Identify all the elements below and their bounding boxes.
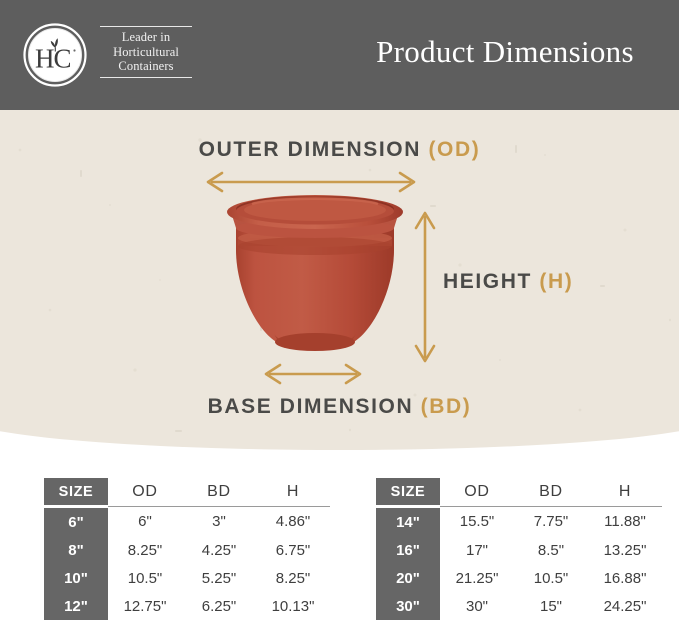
page-title: Product Dimensions (345, 34, 665, 70)
height-dimension-label: HEIGHT (H) (443, 270, 573, 294)
cell-bd: 6.25" (182, 592, 256, 620)
column-header-od: OD (108, 478, 182, 507)
outer-dimension-text: OUTER DIMENSION (199, 138, 421, 161)
tagline-line-2: Horticultural (98, 45, 194, 60)
svg-text:C: C (54, 44, 72, 74)
column-header-h: H (256, 478, 330, 507)
cell-size: 10" (44, 564, 108, 592)
svg-text:H: H (35, 44, 55, 74)
cell-h: 8.25" (256, 564, 330, 592)
cell-h: 6.75" (256, 536, 330, 564)
base-dimension-abbr: (BD) (421, 395, 472, 418)
dimension-table-small: SIZE OD BD H 6" 6" 3" 4.86" 8" 8.25" 4.2… (44, 478, 330, 620)
cell-size: 16" (376, 536, 440, 564)
cell-bd: 7.75" (514, 507, 588, 537)
dimension-diagram: OUTER DIMENSION (OD) HEIGHT (H) BASE DIM… (0, 110, 679, 440)
cell-od: 21.25" (440, 564, 514, 592)
table-row: 8" 8.25" 4.25" 6.75" (44, 536, 330, 564)
height-dimension-arrow-icon (408, 206, 442, 368)
base-dimension-label: BASE DIMENSION (BD) (0, 395, 679, 419)
product-dimensions-infographic: H C Leader in Horticultural Containers P… (0, 0, 679, 636)
brand-tagline: Leader in Horticultural Containers (98, 26, 194, 78)
cell-od: 8.25" (108, 536, 182, 564)
size-table: SIZE OD BD H 14" 15.5" 7.75" 11.88" 16" … (376, 478, 662, 620)
base-dimension-arrow-icon (258, 362, 368, 386)
tagline-line-3: Containers (98, 59, 194, 74)
cell-h: 11.88" (588, 507, 662, 537)
column-header-bd: BD (514, 478, 588, 507)
column-header-od: OD (440, 478, 514, 507)
cell-size: 14" (376, 507, 440, 537)
cell-size: 6" (44, 507, 108, 537)
column-header-size: SIZE (44, 478, 108, 507)
brand-logo: H C Leader in Horticultural Containers (22, 22, 192, 88)
outer-dimension-label: OUTER DIMENSION (OD) (0, 138, 679, 162)
table-header-row: SIZE OD BD H (44, 478, 330, 507)
table-row: 14" 15.5" 7.75" 11.88" (376, 507, 662, 537)
table-row: 10" 10.5" 5.25" 8.25" (44, 564, 330, 592)
cell-size: 12" (44, 592, 108, 620)
base-dimension-text: BASE DIMENSION (208, 395, 414, 418)
cell-size: 20" (376, 564, 440, 592)
cell-od: 15.5" (440, 507, 514, 537)
cell-od: 17" (440, 536, 514, 564)
size-table: SIZE OD BD H 6" 6" 3" 4.86" 8" 8.25" 4.2… (44, 478, 330, 620)
column-header-size: SIZE (376, 478, 440, 507)
table-row: 12" 12.75" 6.25" 10.13" (44, 592, 330, 620)
table-row: 6" 6" 3" 4.86" (44, 507, 330, 537)
cell-od: 30" (440, 592, 514, 620)
cell-h: 10.13" (256, 592, 330, 620)
dimension-table-large: SIZE OD BD H 14" 15.5" 7.75" 11.88" 16" … (376, 478, 662, 620)
height-dimension-abbr: (H) (539, 270, 573, 293)
cell-bd: 10.5" (514, 564, 588, 592)
cell-h: 24.25" (588, 592, 662, 620)
cell-h: 13.25" (588, 536, 662, 564)
cell-od: 6" (108, 507, 182, 537)
outer-dimension-abbr: (OD) (428, 138, 480, 161)
column-header-bd: BD (182, 478, 256, 507)
table-row: 16" 17" 8.5" 13.25" (376, 536, 662, 564)
cell-bd: 4.25" (182, 536, 256, 564)
cell-h: 4.86" (256, 507, 330, 537)
cell-od: 12.75" (108, 592, 182, 620)
table-header-row: SIZE OD BD H (376, 478, 662, 507)
tagline-rule-bottom (100, 77, 192, 78)
column-header-h: H (588, 478, 662, 507)
cell-h: 16.88" (588, 564, 662, 592)
cell-bd: 8.5" (514, 536, 588, 564)
height-dimension-text: HEIGHT (443, 270, 532, 293)
cell-size: 8" (44, 536, 108, 564)
hc-circle-logo-icon: H C (22, 22, 88, 88)
table-row: 30" 30" 15" 24.25" (376, 592, 662, 620)
cell-od: 10.5" (108, 564, 182, 592)
table-row: 20" 21.25" 10.5" 16.88" (376, 564, 662, 592)
header-bar: H C Leader in Horticultural Containers P… (0, 0, 679, 110)
cell-size: 30" (376, 592, 440, 620)
outer-dimension-arrow-icon (200, 170, 422, 194)
terracotta-planter-pot-illustration (222, 194, 408, 370)
cell-bd: 5.25" (182, 564, 256, 592)
tagline-line-1: Leader in (98, 30, 194, 45)
cell-bd: 15" (514, 592, 588, 620)
cell-bd: 3" (182, 507, 256, 537)
